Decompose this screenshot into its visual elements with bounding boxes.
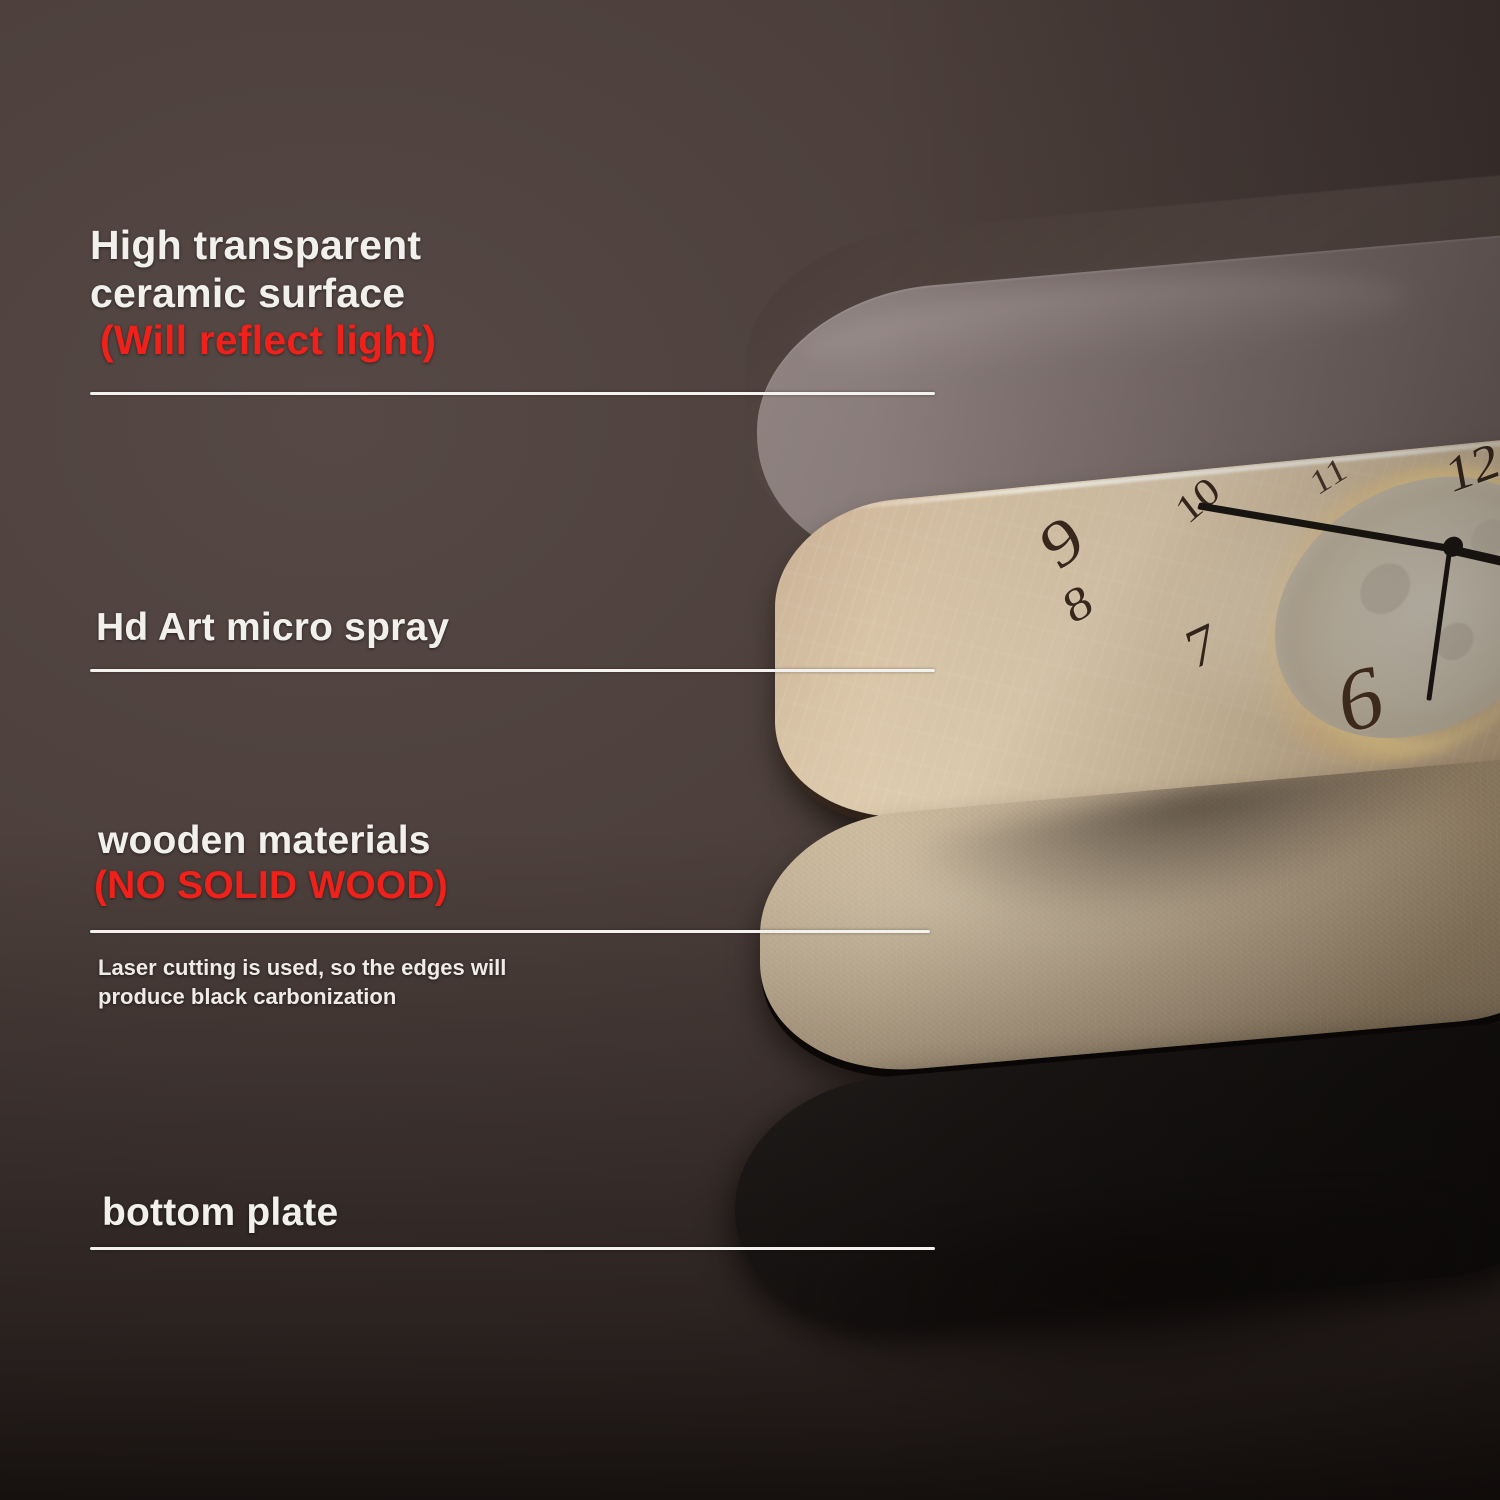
clock-numeral-6: 6 bbox=[1334, 649, 1386, 749]
laser-note-line2: produce black carbonization bbox=[98, 984, 506, 1011]
callout-wooden-note: (NO SOLID WOOD) bbox=[94, 863, 448, 908]
callout-wooden-title: wooden materials bbox=[98, 818, 448, 863]
callout-wooden-materials: wooden materials (NO SOLID WOOD) bbox=[90, 818, 448, 908]
callout-ceramic-note: (Will reflect light) bbox=[100, 317, 436, 365]
callout-ceramic-title-line2: ceramic surface bbox=[90, 270, 436, 318]
callout-micro-spray: Hd Art micro spray bbox=[90, 605, 449, 650]
leader-line-micro-spray bbox=[90, 669, 935, 672]
callout-ceramic-surface: High transparent ceramic surface (Will r… bbox=[90, 222, 436, 365]
leader-line-bottom-plate bbox=[90, 1247, 935, 1250]
laser-note-line1: Laser cutting is used, so the edges will bbox=[98, 955, 506, 982]
product-infographic: 6 7 8 9 10 11 12 High transparent cerami… bbox=[0, 0, 1500, 1500]
callout-micro-spray-title: Hd Art micro spray bbox=[96, 605, 449, 650]
callout-ceramic-title-line1: High transparent bbox=[90, 222, 436, 270]
leader-line-ceramic bbox=[90, 392, 935, 395]
callout-bottom-plate: bottom plate bbox=[90, 1190, 338, 1235]
callout-bottom-plate-title: bottom plate bbox=[102, 1190, 338, 1235]
callout-laser-cutting-note: Laser cutting is used, so the edges will… bbox=[90, 955, 506, 1011]
leader-line-wooden bbox=[90, 930, 930, 933]
bottom-plate-layer bbox=[735, 1055, 1500, 1385]
